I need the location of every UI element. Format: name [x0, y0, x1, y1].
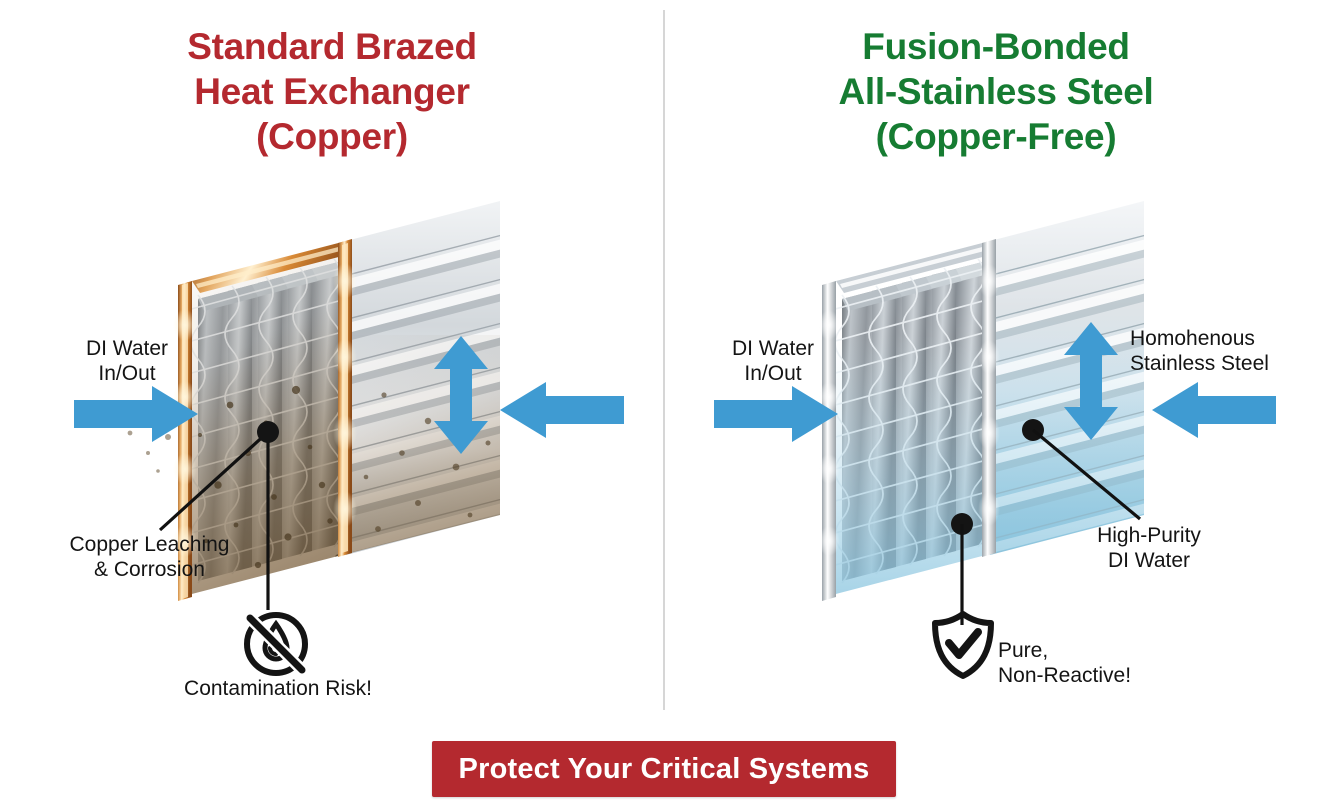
pure-non-reactive-label: Pure, Non-Reactive! [998, 638, 1228, 688]
shield-check-icon [930, 610, 996, 680]
left-title-line-2: Heat Exchanger [0, 69, 664, 114]
infographic-canvas: Standard Brazed Heat Exchanger (Copper) [0, 0, 1328, 800]
right-title-line-1: Fusion-Bonded [664, 24, 1328, 69]
right-title-line-3: (Copper-Free) [664, 114, 1328, 159]
panel-fusion-bonded: Fusion-Bonded All-Stainless Steel (Coppe… [664, 0, 1328, 730]
arrow-right-icon [714, 386, 838, 442]
left-title-line-3: (Copper) [0, 114, 664, 159]
right-callout-material-label: Homohenous Stainless Steel [1130, 326, 1320, 376]
panel-divider [663, 10, 665, 710]
cta-banner-text: Protect Your Critical Systems [459, 753, 870, 786]
right-panel-title: Fusion-Bonded All-Stainless Steel (Coppe… [664, 24, 1328, 159]
panel-standard-brazed: Standard Brazed Heat Exchanger (Copper) [0, 0, 664, 730]
left-panel-title: Standard Brazed Heat Exchanger (Copper) [0, 24, 664, 159]
arrow-up-down-icon [434, 336, 488, 454]
left-inlet-label: DI Water In/Out [42, 336, 212, 386]
no-water-drop-icon [240, 608, 312, 680]
left-title-line-1: Standard Brazed [0, 24, 664, 69]
right-title-line-2: All-Stainless Steel [664, 69, 1328, 114]
arrow-left-icon [500, 382, 624, 438]
callout-dot-corrosion [257, 421, 279, 443]
right-callout-water-label: High-Purity DI Water [1054, 523, 1244, 573]
right-inlet-label: DI Water In/Out [688, 336, 858, 386]
contamination-risk-label: Contamination Risk! [156, 676, 400, 701]
left-callout-material-label: Copper Leaching & Corrosion [42, 532, 257, 582]
cta-banner[interactable]: Protect Your Critical Systems [432, 741, 896, 797]
